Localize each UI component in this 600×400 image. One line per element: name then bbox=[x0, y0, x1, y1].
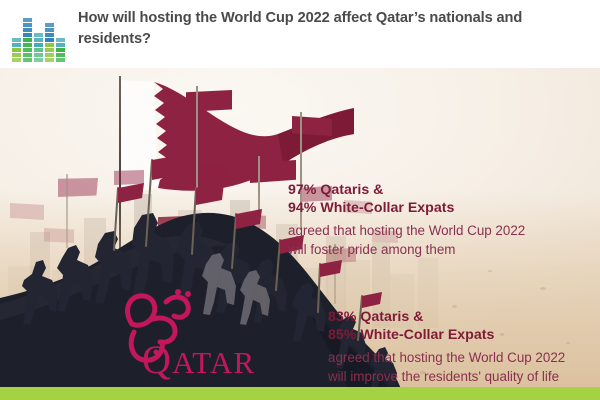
page-title: How will hosting the World Cup 2022 affe… bbox=[78, 8, 588, 50]
callout-1-stat-line-2: 94% White-Collar Expats bbox=[288, 200, 525, 218]
callout-2-body-line-1: agreed that hosting the World Cup 2022 bbox=[328, 349, 565, 368]
callout-1-stat-line-1: 97% Qataris & bbox=[288, 182, 525, 200]
skyline-buildings-logo bbox=[12, 17, 66, 63]
footer-accent-bar bbox=[0, 387, 600, 400]
callout-2-stat-line-1: 83% Qataris & bbox=[328, 309, 565, 327]
callout-quality-of-life: 83% Qataris & 85% White-Collar Expats ag… bbox=[328, 309, 565, 386]
qatar-wordmark: QATAR bbox=[104, 274, 254, 384]
qatar-wordmark-text: QATAR bbox=[142, 336, 255, 383]
header-bar: How will hosting the World Cup 2022 affe… bbox=[0, 0, 600, 68]
qatar-wordmark-rest: ATAR bbox=[172, 345, 255, 380]
illustration-scene: QATAR 97% Qataris & 94% White-Collar Exp… bbox=[0, 68, 600, 400]
qatar-wordmark-initial: Q bbox=[142, 337, 172, 382]
callout-1-body-line-1: agreed that hosting the World Cup 2022 bbox=[288, 222, 525, 241]
callout-2-body-line-2: will improve the residents' quality of l… bbox=[328, 368, 565, 387]
callout-2-stat-line-2: 85% White-Collar Expats bbox=[328, 327, 565, 345]
callout-pride: 97% Qataris & 94% White-Collar Expats ag… bbox=[288, 182, 525, 259]
callout-1-body-line-2: will foster pride among them bbox=[288, 241, 525, 260]
infographic-root: How will hosting the World Cup 2022 affe… bbox=[0, 0, 600, 400]
